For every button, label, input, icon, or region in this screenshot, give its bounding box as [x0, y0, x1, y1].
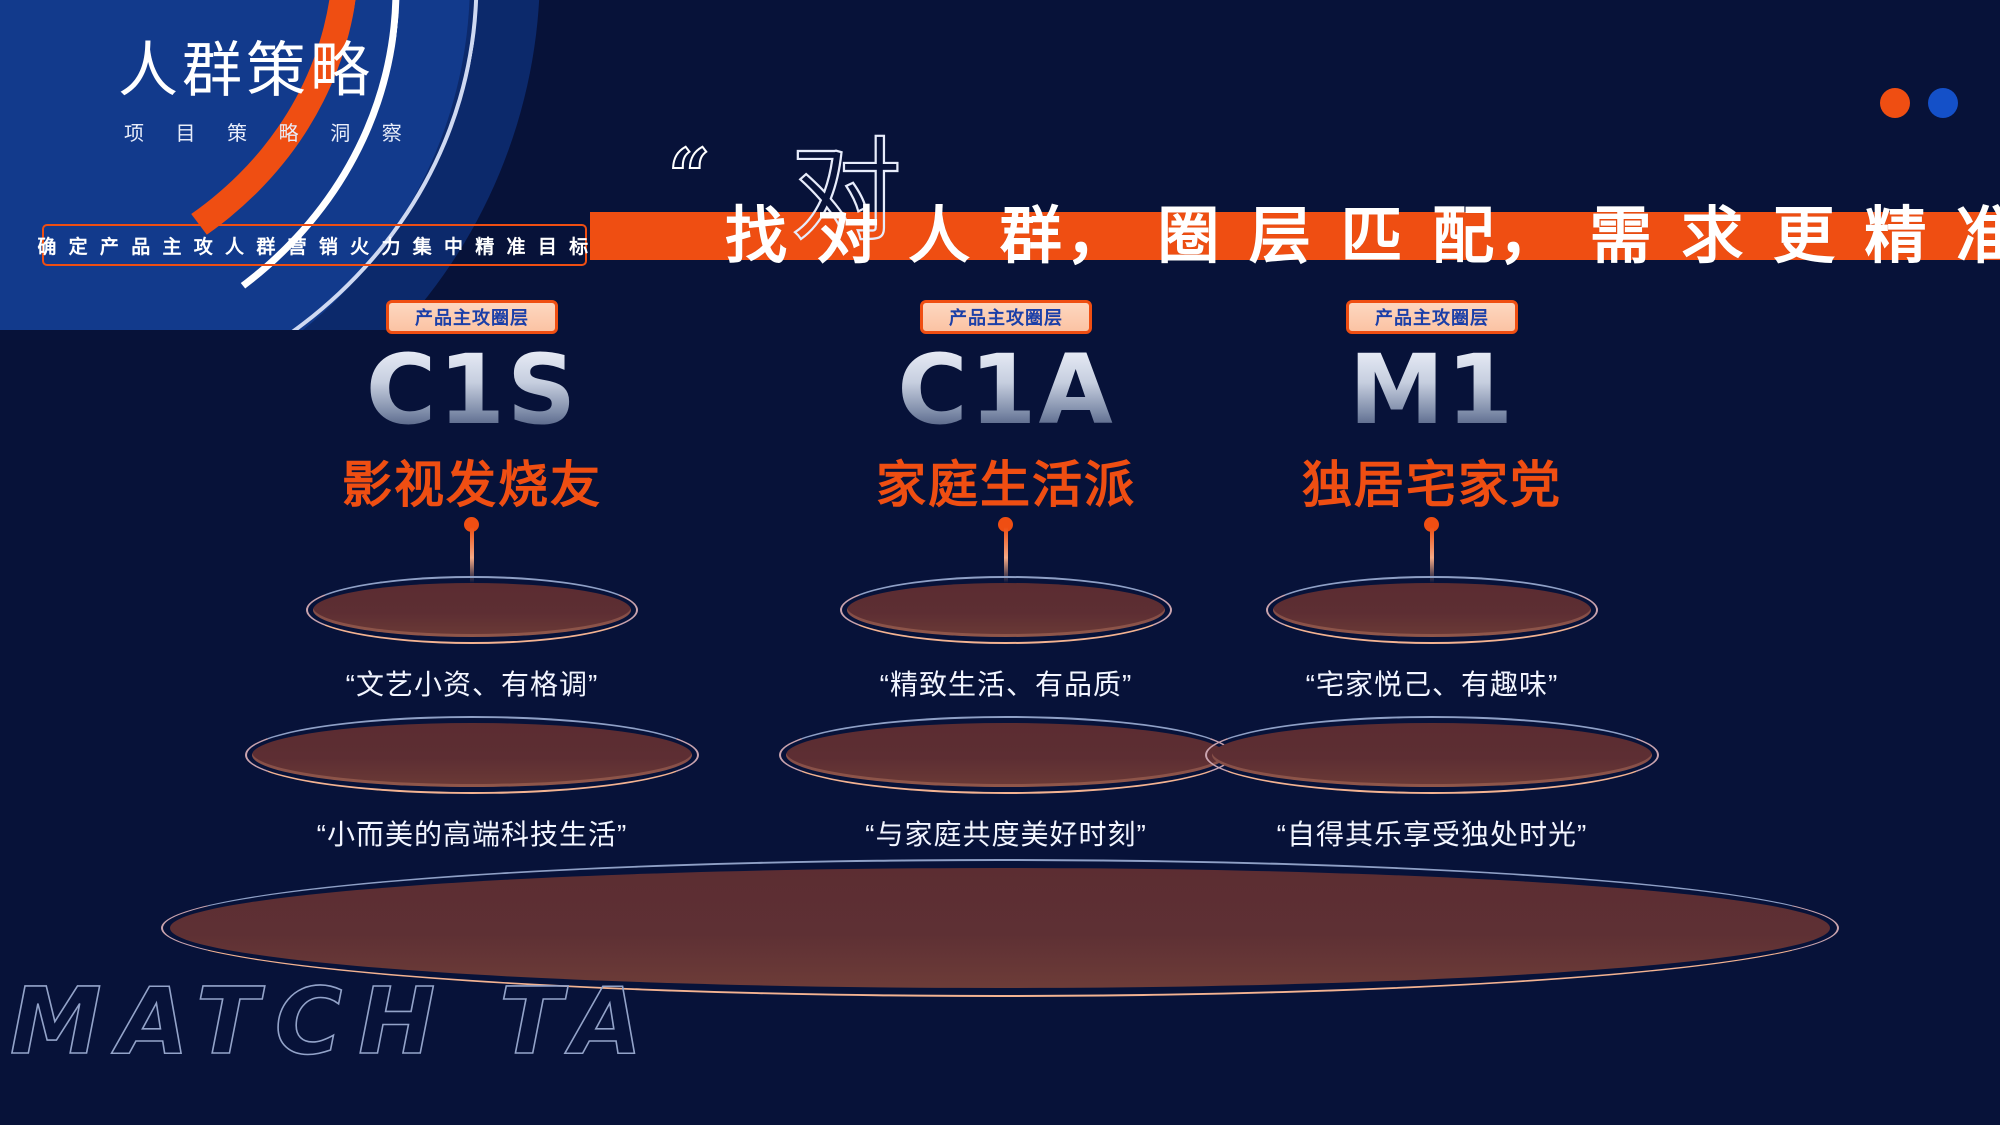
badge-product-focus-2: 产品主攻圈层 [920, 300, 1092, 334]
decorative-dots [1880, 88, 1958, 118]
connector-line [1430, 527, 1434, 583]
connector-line [1004, 527, 1008, 583]
platform-ellipse-small-3 [1273, 583, 1591, 637]
badge-product-focus-1: 产品主攻圈层 [386, 300, 558, 334]
persona-quote-bottom-3: “自得其乐享受独处时光” [1152, 813, 1712, 853]
tagline-text: 确 定 产 品 主 攻 人 群 营 销 火 力 集 中 精 准 目 标 [37, 232, 591, 259]
platform-ellipse-medium-3 [1212, 723, 1652, 787]
persona-column-3: 产品主攻圈层 M1 独居宅家党 “宅家悦己、有趣味” “自得其乐享受独处时光” [1152, 300, 1712, 873]
watermark-text: MATCH TA [10, 968, 658, 1075]
persona-name-3: 独居宅家党 [1152, 445, 1712, 517]
headline-text: 找 对 人 群， 圈 层 匹 配， 需 求 更 精 准 [725, 185, 2000, 275]
connector-line [470, 527, 474, 583]
persona-code-1: C1S [192, 340, 752, 441]
persona-columns: 产品主攻圈层 C1S 影视发烧友 “文艺小资、有格调” “小而美的高端科技生活”… [0, 300, 2000, 940]
connector-3 [1152, 517, 1712, 583]
platform-ellipse-small-1 [313, 583, 631, 637]
platform-ellipse-medium-1 [252, 723, 692, 787]
page-title: 人群策略 [118, 40, 415, 103]
persona-quote-top-1: “文艺小资、有格调” [192, 663, 752, 703]
page-subtitle: 项 目 策 略 洞 察 [124, 117, 415, 146]
platform-ellipse-small-2 [847, 583, 1165, 637]
orange-dot-icon [1880, 88, 1910, 118]
header-block: 人群策略 项 目 策 略 洞 察 [118, 40, 415, 146]
blue-dot-icon [1928, 88, 1958, 118]
connector-1 [192, 517, 752, 583]
persona-quote-top-3: “宅家悦己、有趣味” [1152, 663, 1712, 703]
persona-column-1: 产品主攻圈层 C1S 影视发烧友 “文艺小资、有格调” “小而美的高端科技生活” [192, 300, 752, 873]
quote-mark-decoration: “ [668, 150, 711, 206]
persona-name-1: 影视发烧友 [192, 445, 752, 517]
slide-canvas: 人群策略 项 目 策 略 洞 察 确 定 产 品 主 攻 人 群 营 销 火 力… [0, 0, 2000, 1125]
persona-quote-bottom-1: “小而美的高端科技生活” [192, 813, 752, 853]
tagline-pill: 确 定 产 品 主 攻 人 群 营 销 火 力 集 中 精 准 目 标 [42, 224, 587, 266]
badge-product-focus-3: 产品主攻圈层 [1346, 300, 1518, 334]
persona-code-3: M1 [1152, 340, 1712, 441]
